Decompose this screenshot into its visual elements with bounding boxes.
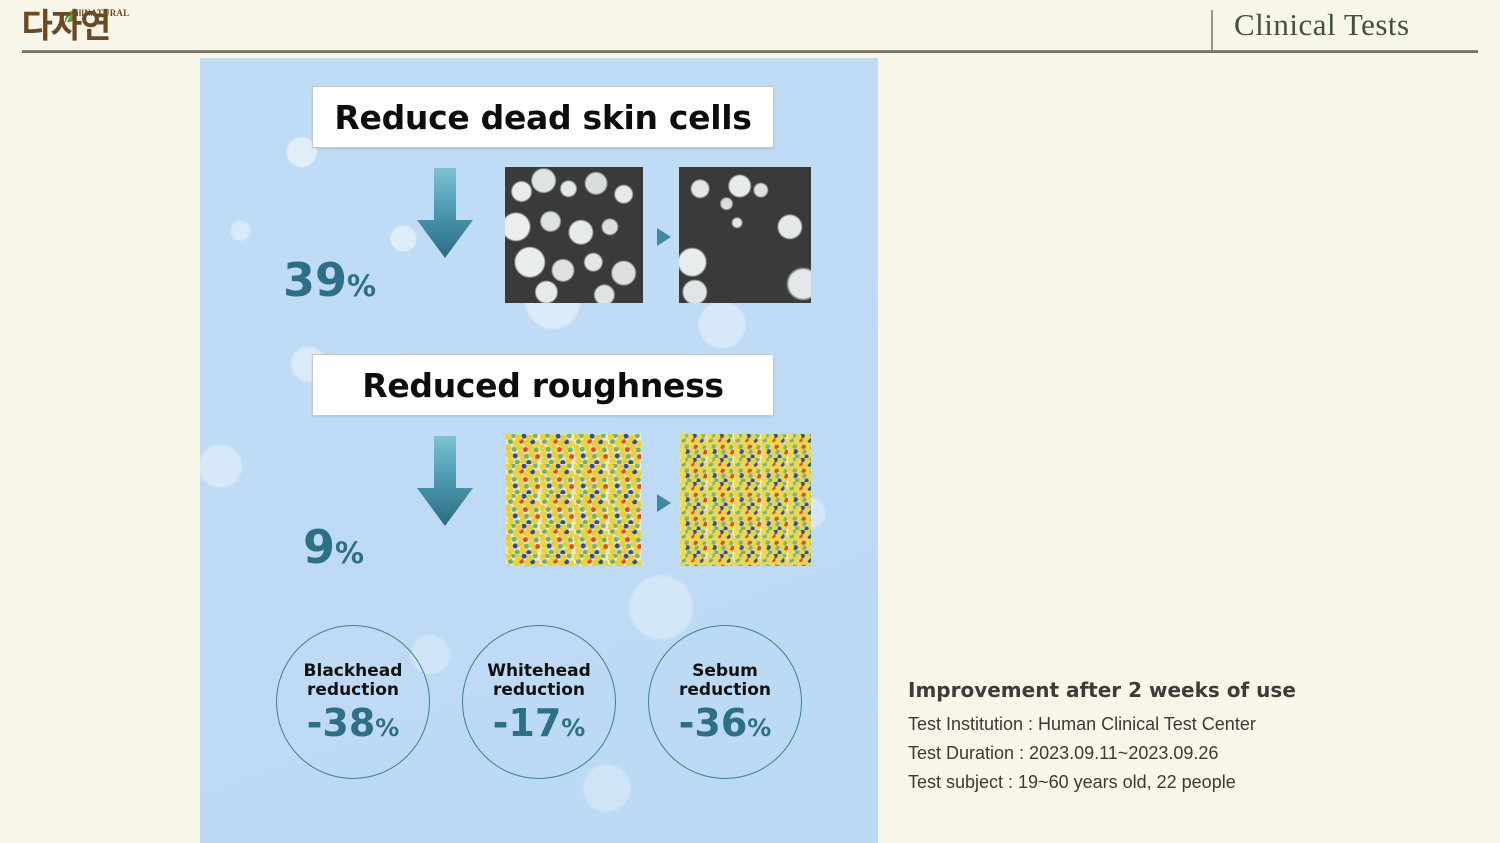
page-title: Clinical Tests xyxy=(1234,7,1410,43)
micrograph-after-dead-skin-cells xyxy=(679,167,811,303)
metric-number: -36 xyxy=(679,701,748,745)
triangle-right-icon xyxy=(654,492,674,514)
header-horizontal-divider xyxy=(22,50,1478,53)
notes-heading: Improvement after 2 weeks of use xyxy=(908,678,1408,702)
logo-wordmark: 다자연 xyxy=(22,6,110,46)
micrograph-image xyxy=(506,434,641,566)
section-title-plate-dead-skin-cells: Reduce dead skin cells xyxy=(312,86,774,148)
metric-value: -38% xyxy=(307,704,400,742)
metric-label: Sebum reduction xyxy=(679,662,771,700)
micrograph-image xyxy=(680,434,811,566)
metric-label-line1: Sebum xyxy=(679,662,771,681)
section-title-label: Reduce dead skin cells xyxy=(334,98,751,137)
clinical-results-panel: Reduce dead skin cells 39% Reduced rough… xyxy=(200,58,878,843)
reduction-unit: % xyxy=(335,536,364,570)
metric-number: -38 xyxy=(307,701,376,745)
notes-line-subject: Test subject : 19~60 years old, 22 peopl… xyxy=(908,768,1408,797)
metric-unit: % xyxy=(747,714,771,742)
metric-label-line2: reduction xyxy=(487,681,591,700)
metric-circle-sebum: Sebum reduction -36% xyxy=(648,625,802,779)
notes-line-duration: Test Duration : 2023.09.11~2023.09.26 xyxy=(908,739,1408,768)
metric-label-line1: Whitehead xyxy=(487,662,591,681)
micrograph-before-dead-skin-cells xyxy=(505,167,643,303)
section-title-label: Reduced roughness xyxy=(362,366,724,405)
metric-unit: % xyxy=(561,714,585,742)
reduction-value-roughness: 9% xyxy=(303,520,364,574)
arrow-down-icon xyxy=(415,436,475,526)
micrograph-after-roughness xyxy=(680,434,811,566)
metric-value: -17% xyxy=(493,704,586,742)
metric-circle-blackhead: Blackhead reduction -38% xyxy=(276,625,430,779)
metric-label: Whitehead reduction xyxy=(487,662,591,700)
reduction-number: 9 xyxy=(303,520,335,574)
arrow-down-icon xyxy=(415,168,475,258)
metric-label-line2: reduction xyxy=(679,681,771,700)
micrograph-image xyxy=(679,167,811,303)
page-header: allNATURAL 다자연 Clinical Tests xyxy=(0,0,1500,58)
micrograph-before-roughness xyxy=(506,434,641,566)
triangle-right-icon xyxy=(654,226,674,248)
metric-label: Blackhead reduction xyxy=(304,662,403,700)
reduction-value-dead-skin-cells: 39% xyxy=(283,253,376,307)
header-vertical-divider xyxy=(1211,10,1213,51)
section-title-plate-roughness: Reduced roughness xyxy=(312,354,774,416)
reduction-unit: % xyxy=(347,269,376,303)
reduction-number: 39 xyxy=(283,253,347,307)
notes-line-institution: Test Institution : Human Clinical Test C… xyxy=(908,710,1408,739)
metric-label-line2: reduction xyxy=(304,681,403,700)
brand-logo[interactable]: allNATURAL 다자연 xyxy=(22,4,182,48)
micrograph-image xyxy=(505,167,643,303)
metric-label-line1: Blackhead xyxy=(304,662,403,681)
metric-value: -36% xyxy=(679,704,772,742)
metric-number: -17 xyxy=(493,701,562,745)
metric-circle-whitehead: Whitehead reduction -17% xyxy=(462,625,616,779)
test-notes: Improvement after 2 weeks of use Test In… xyxy=(908,678,1408,797)
metric-unit: % xyxy=(375,714,399,742)
